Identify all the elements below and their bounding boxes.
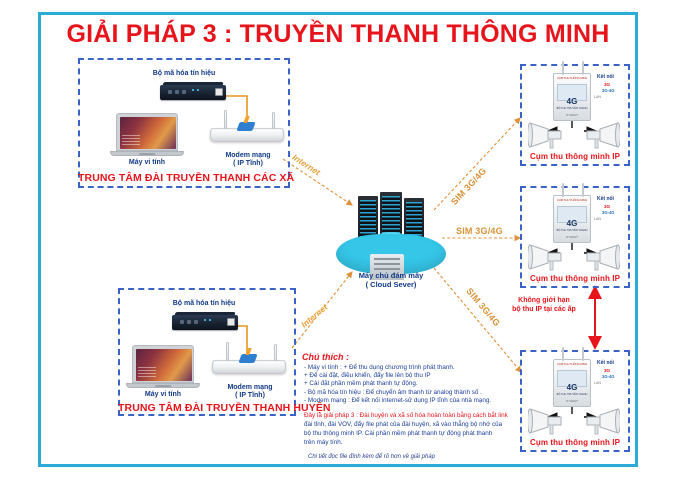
receiver-caption-bottom: Cụm thu thông minh IP: [520, 438, 630, 447]
encoder-device-district: [172, 312, 240, 334]
encoder-rj45-port: [215, 88, 223, 96]
receiver-antenna: [582, 183, 584, 197]
connect-row-3g-middle: 3G: [604, 204, 610, 209]
receiver-footer: IP SMART: [554, 236, 590, 239]
legend-line-1: + Để cài đặt, điều khiển, đẩy file lên b…: [304, 372, 431, 380]
encoder-led: [204, 319, 206, 321]
connect-row-3g4g-bottom: 3G-4G: [602, 374, 615, 379]
laptop-screen: [136, 349, 192, 381]
legend-line-4: - Modem mạng : Để kết nối internet-sử dụ…: [304, 397, 491, 405]
receiver-device-middle: CỤM THU THÔNG MINH 4G BỘ THU TRUYỀN THAN…: [553, 195, 591, 243]
connect-title-middle: Kết nối: [597, 196, 614, 202]
laptop-base: [110, 151, 184, 156]
connect-row-lan-bottom: LAN: [594, 381, 601, 385]
legend-block: Chú thích : - Máy vi tính : + Để thu dụn…: [302, 352, 320, 497]
limit-note-line2: bộ thu IP tại các ấp: [490, 305, 598, 314]
computer-label-commune: Máy vi tính: [110, 159, 184, 168]
legend-summary-2: bộ thu thông minh IP. Cài phần mềm phát …: [304, 430, 492, 438]
laptop-district: [126, 345, 200, 389]
legend-line-3: - Bộ mã hóa tín hiệu : Để chuyển âm than…: [304, 389, 482, 397]
receiver-subtitle: BỘ THU TRUYỀN THANH: [554, 107, 590, 110]
encoder-rj45-port: [227, 318, 235, 326]
encoder-port: [180, 320, 184, 324]
legend-footnote: Chi tiết đọc file đính kèm để rõ hơn về …: [308, 454, 435, 460]
encoder-led: [209, 319, 211, 321]
laptop-lid: [116, 113, 178, 151]
legend-summary-1: đài tỉnh, đài VOV, đẩy file phát của đài…: [304, 421, 502, 429]
speaker-horn-left-middle: [528, 242, 568, 272]
receiver-device-top: CỤM THU THÔNG MINH 4G BỘ THU TRUYỀN THAN…: [553, 73, 591, 121]
laptop-commune: [110, 113, 184, 157]
encoder-port: [194, 320, 198, 324]
encoder-port: [187, 320, 191, 324]
receiver-caption-middle: Cụm thu thông minh IP: [520, 274, 630, 283]
receiver-caption-top: Cụm thu thông minh IP: [520, 152, 630, 161]
link-label-sim-middle: SIM 3G/4G: [456, 226, 503, 236]
receiver-antenna: [582, 347, 584, 361]
modem-label-district-line2: ( IP Tĩnh): [210, 392, 290, 401]
encoder-port: [175, 90, 179, 94]
receiver-device-bottom: CỤM THU THÔNG MINH 4G BỘ THU TRUYỀN THAN…: [553, 359, 591, 407]
receiver-footer: IP SMART: [554, 400, 590, 403]
encoder-led: [192, 89, 194, 91]
speaker-horn-right-middle: [580, 242, 620, 272]
receiver-brand-top: CỤM THU THÔNG MINH: [554, 76, 590, 80]
connect-row-lan-top: LAN: [594, 95, 601, 99]
receiver-network-label: 4G: [554, 384, 590, 392]
encoder-label-commune: Bộ mã hóa tín hiệu: [128, 70, 240, 79]
legend-summary-3: trên máy tính.: [304, 439, 343, 447]
speaker-horn-right-top: [580, 120, 620, 150]
cloud-server: [336, 192, 446, 282]
modem-label-commune-line2: ( IP Tĩnh): [208, 160, 288, 169]
connect-title-top: Kết nối: [597, 74, 614, 80]
legend-heading: Chú thích :: [302, 352, 349, 362]
router-cable-plug: [238, 354, 257, 363]
receiver-antenna: [582, 61, 584, 75]
diagram-page: GIẢI PHÁP 3 : TRUYỀN THANH THÔNG MINH: [0, 0, 674, 497]
receiver-network-label: 4G: [554, 98, 590, 106]
encoder-port: [168, 90, 172, 94]
encoder-led: [197, 89, 199, 91]
encoder-label-district: Bộ mã hóa tín hiệu: [148, 300, 260, 309]
connect-row-3g4g-top: 3G-4G: [602, 88, 615, 93]
receiver-brand-top: CỤM THU THÔNG MINH: [554, 198, 590, 202]
connect-row-3g4g-middle: 3G-4G: [602, 210, 615, 215]
receiver-brand-top: CỤM THU THÔNG MINH: [554, 362, 590, 366]
page-title: GIẢI PHÁP 3 : TRUYỀN THANH THÔNG MINH: [38, 20, 638, 49]
legend-line-0: - Máy vi tính : + Để thu dụng chương trì…: [304, 364, 455, 372]
receiver-antenna: [562, 183, 564, 197]
computer-label-district: Máy vi tính: [126, 391, 200, 400]
receiver-antenna: [562, 347, 564, 361]
connect-row-3g-bottom: 3G: [604, 368, 610, 373]
receiver-subtitle: BỘ THU TRUYỀN THANH: [554, 393, 590, 396]
router-commune: [210, 110, 286, 144]
receiver-network-label: 4G: [554, 220, 590, 228]
cloud-label-line2: ( Cloud Sever): [336, 281, 446, 290]
limit-note-line1: Không giới hạn: [496, 296, 592, 305]
encoder-port: [182, 90, 186, 94]
router-cable-plug: [236, 122, 255, 131]
connect-row-3g-top: 3G: [604, 82, 610, 87]
laptop-base: [126, 383, 200, 388]
router-district: [212, 342, 288, 376]
encoder-device-commune: [160, 82, 228, 104]
legend-line-2: + Cài đặt phần mềm phát thanh tự động.: [304, 380, 418, 388]
connect-row-lan-middle: LAN: [594, 217, 601, 221]
legend-summary-0: Đây là giải pháp 3 : Đài huyện và xã số …: [304, 412, 508, 420]
receiver-antenna: [562, 61, 564, 75]
speaker-horn-left-bottom: [528, 406, 568, 436]
panel-title-district: TRUNG TÂM ĐÀI TRUYỀN THANH HUYỆN: [118, 402, 296, 414]
receiver-footer: IP SMART: [554, 114, 590, 117]
connect-title-bottom: Kết nối: [597, 360, 614, 366]
receiver-subtitle: BỘ THU TRUYỀN THANH: [554, 229, 590, 232]
speaker-horn-left-top: [528, 120, 568, 150]
laptop-lid: [132, 345, 194, 383]
speaker-horn-right-bottom: [580, 406, 620, 436]
panel-title-commune: TRUNG TÂM ĐÀI TRUYỀN THANH CÁC XÃ: [78, 172, 290, 184]
laptop-screen: [120, 117, 176, 149]
